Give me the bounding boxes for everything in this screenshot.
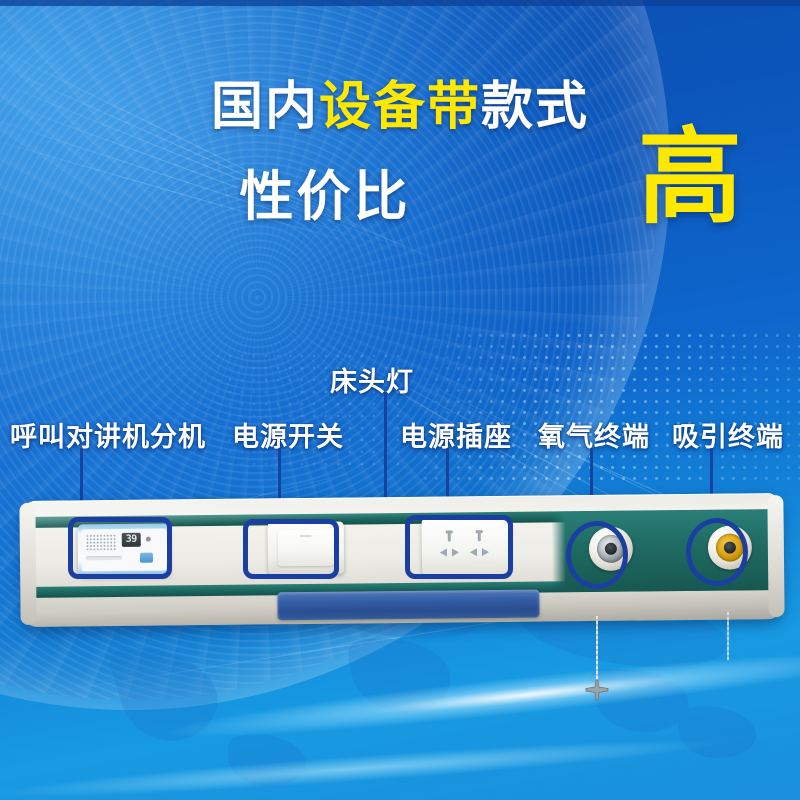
callout-label-power-switch: 电源开关: [232, 415, 344, 454]
callout-label-bed-lamp: 床头灯: [330, 360, 414, 399]
headline-part-2: 设备带: [319, 78, 481, 136]
pull-cord-handle-icon[interactable]: [583, 678, 611, 702]
highlight-socket: [405, 515, 513, 579]
callout-label-suction-terminal: 吸引终端: [672, 415, 784, 454]
promo-banner: 国内设备带款式 性价比 高 呼叫对讲机分机电源开关床头灯电源插座氧气终端吸引终端…: [0, 0, 800, 800]
callout-label-oxygen-terminal: 氧气终端: [538, 415, 650, 454]
halftone-dots-right: [420, 330, 800, 480]
headline-part-3: 款式: [481, 78, 589, 136]
highlight-intercom: [68, 517, 172, 579]
panel-end-cap-right: [767, 495, 784, 617]
highlight-suction: [686, 518, 748, 586]
highlight-switch: [243, 519, 339, 579]
panel-end-cap-left: [19, 503, 36, 625]
headline-emphasis: 高: [638, 126, 742, 230]
headline-part-1: 国内: [211, 78, 319, 136]
secondary-pull-cord[interactable]: [727, 612, 729, 660]
nurse-call-pull-cord[interactable]: [596, 616, 598, 682]
headline-block: 国内设备带款式 性价比 高: [0, 78, 800, 252]
callout-label-power-socket: 电源插座: [400, 415, 512, 454]
highlight-oxygen: [566, 521, 628, 589]
callout-label-nurse-call-intercom: 呼叫对讲机分机: [10, 415, 206, 454]
bed-lamp-diffuser: [277, 590, 539, 621]
